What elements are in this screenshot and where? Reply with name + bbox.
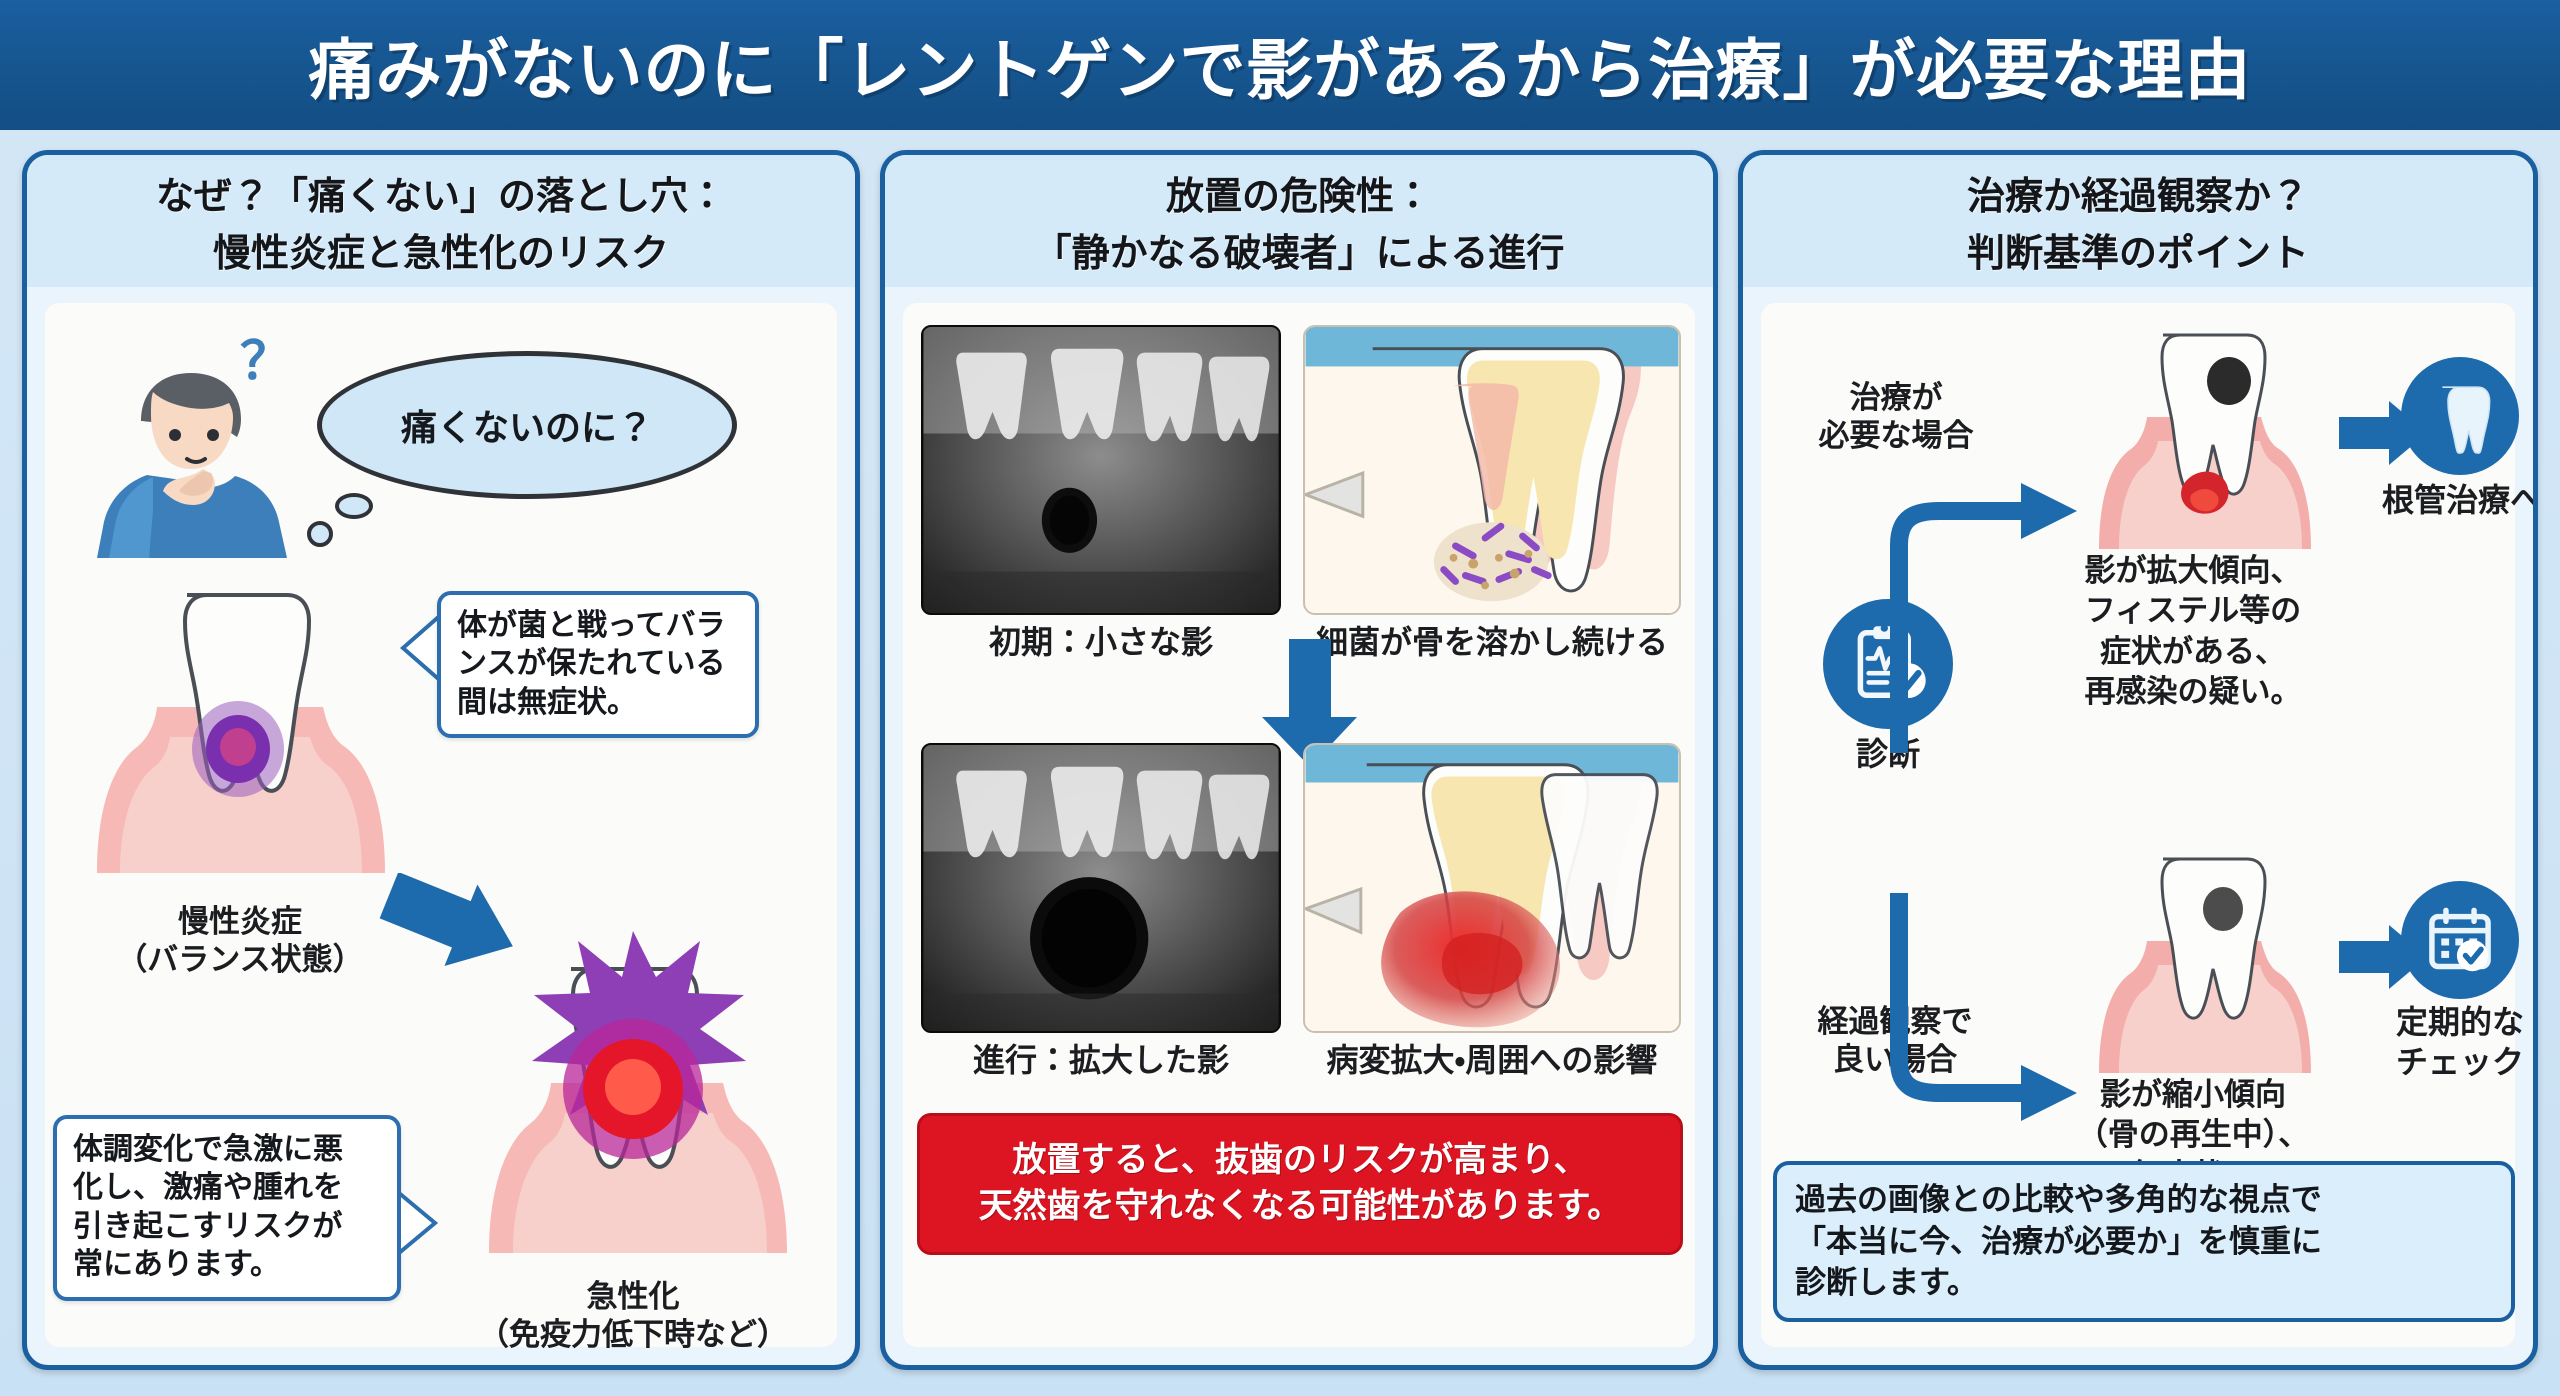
checkup-node xyxy=(2401,881,2519,999)
callout-pointer-right xyxy=(397,1183,439,1263)
calendar-check-icon xyxy=(2421,901,2499,979)
panel-right-header: 治療か経過観察か？ 判断基準のポイント xyxy=(1743,155,2533,287)
infographic-root: 痛みがないのに「レントゲンで影があるから治療」が必要な理由 なぜ？「痛くない」の… xyxy=(0,0,2560,1396)
panel-treat-or-observe: 治療か経過観察か？ 判断基準のポイント 治療が 必要な場合 経過観察で 良い場合 xyxy=(1738,150,2538,1370)
tooth-icon xyxy=(2420,376,2500,456)
panel-right-body: 治療が 必要な場合 経過観察で 良い場合 診断 xyxy=(1761,303,2515,1347)
root-canal-node xyxy=(2401,357,2519,475)
panel-left-body: ？ 痛くないのに？ 慢性炎症 （バランス状態） 体が菌と戦ってバラ ンスが xyxy=(45,303,837,1347)
illustration-bacteria-dissolving-bone xyxy=(1303,325,1681,615)
outcome-root-canal: 根管治療へ xyxy=(2357,481,2538,520)
panel-mid-body: 初期：小さな影 細 xyxy=(903,303,1695,1347)
panel-left-header: なぜ？「痛くない」の落とし穴： 慢性炎症と急性化のリスク xyxy=(27,155,855,287)
caption-xray-late: 進行：拡大した影 xyxy=(921,1041,1281,1080)
label-acute-flareup: 急性化 （免疫力低下時など） xyxy=(443,1278,823,1354)
page-title: 痛みがないのに「レントゲンで影があるから治療」が必要な理由 xyxy=(309,17,2252,113)
panel-why-no-pain: なぜ？「痛くない」の落とし穴： 慢性炎症と急性化のリスク ？ 痛くないのに？ xyxy=(22,150,860,1370)
illustration-lesion-expansion xyxy=(1303,743,1681,1033)
panel-risk-of-neglect: 放置の危険性： 「静かなる破壊者」による進行 xyxy=(880,150,1718,1370)
criteria-treatment: 影が拡大傾向、 フィステル等の 症状がある、 再感染の疑い。 xyxy=(2023,551,2363,712)
panel-left-heading-line2: 慢性炎症と急性化のリスク xyxy=(213,222,669,277)
summary-box: 過去の画像との比較や多角的な視点で 「本当に今、治療が必要か」を慎重に 診断しま… xyxy=(1773,1161,2515,1322)
xray-early-stage xyxy=(921,325,1281,615)
speech-bubble-tail-2 xyxy=(307,521,333,547)
panel-left-heading-line1: なぜ？「痛くない」の落とし穴： xyxy=(156,165,726,220)
tooth-shrinking-lesion-illustration xyxy=(2079,843,2329,1093)
label-chronic-inflammation: 慢性炎症 （バランス状態） xyxy=(75,903,405,979)
speech-bubble-tail-1 xyxy=(335,493,373,519)
speech-bubble-text: 痛くないのに？ xyxy=(401,399,653,451)
speech-bubble: 痛くないのに？ xyxy=(317,351,737,499)
warning-line-1: 放置すると、抜歯のリスクが高まり、 xyxy=(1012,1138,1587,1184)
xray-advanced-stage xyxy=(921,743,1281,1033)
caption-illus-late: 病変拡大・周囲への影響 xyxy=(1293,1041,1691,1080)
tooth-expanding-lesion-illustration xyxy=(2079,319,2329,569)
panel-right-heading-line1: 治療か経過観察か？ xyxy=(1967,165,2309,220)
branch-label-treatment: 治療が 必要な場合 xyxy=(1781,379,2011,455)
tooth-chronic-lesion-illustration xyxy=(75,573,405,903)
callout-balance: 体が菌と戦ってバラ ンスが保たれている 間は無症状。 xyxy=(437,591,759,738)
panel-mid-header: 放置の危険性： 「静かなる破壊者」による進行 xyxy=(885,155,1713,287)
panel-mid-heading-line2: 「静かなる破壊者」による進行 xyxy=(1034,222,1565,277)
warning-line-2: 天然歯を守れなくなる可能性があります。 xyxy=(979,1184,1622,1230)
panel-right-heading-line2: 判断基準のポイント xyxy=(1967,222,2309,277)
warning-banner: 放置すると、抜歯のリスクが高まり、 天然歯を守れなくなる可能性があります。 xyxy=(917,1113,1683,1255)
page-title-bar: 痛みがないのに「レントゲンで影があるから治療」が必要な理由 xyxy=(0,0,2560,130)
caption-xray-early: 初期：小さな影 xyxy=(921,623,1281,662)
tooth-acute-flareup-illustration xyxy=(453,913,813,1283)
outcome-regular-checkup: 定期的な チェック xyxy=(2345,1003,2538,1082)
callout-acute-risk: 体調変化で急激に悪 化し、激痛や腫れを 引き起こすリスクが 常にあります。 xyxy=(53,1115,401,1301)
question-mark-icon: ？ xyxy=(240,331,292,394)
panel-mid-heading-line1: 放置の危険性： xyxy=(1166,165,1432,220)
